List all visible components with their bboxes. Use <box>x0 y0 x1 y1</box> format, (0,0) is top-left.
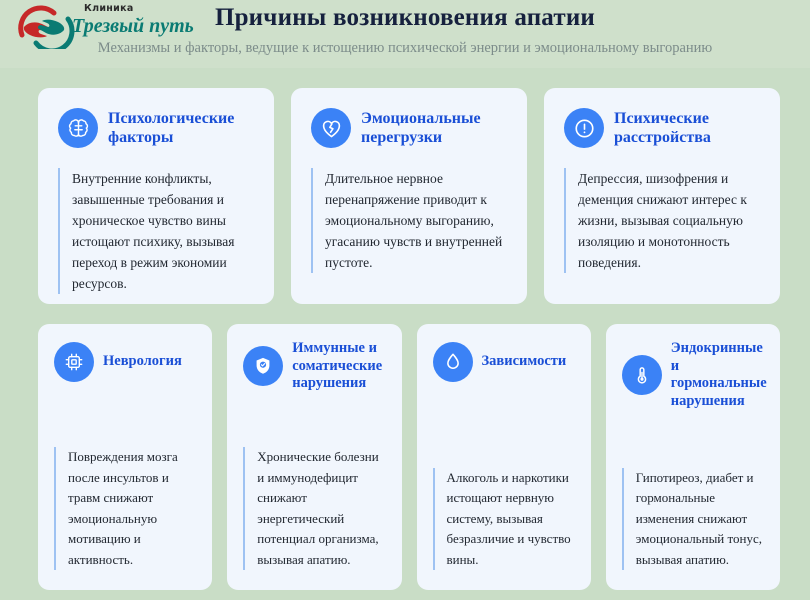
card-body: Хронические болезни и иммунодефицит сниж… <box>243 447 385 570</box>
infographic-page: Клиника Трезвый путь Причины возникновен… <box>0 0 810 600</box>
cards-row-top: Психологические факторы Внутренние конфл… <box>38 88 780 304</box>
broken-heart-icon <box>311 108 351 148</box>
card-title: Иммунные и соматические нарушения <box>292 340 385 393</box>
card-header: Иммунные и соматические нарушения <box>243 340 385 393</box>
cards-row-bottom: Неврология Повреждения мозга после инсул… <box>38 324 780 590</box>
page-title: Причины возникновения апатии <box>0 4 810 32</box>
card-title: Зависимости <box>482 353 567 371</box>
microchip-icon <box>54 342 94 382</box>
card-psychological-factors: Психологические факторы Внутренние конфл… <box>38 88 274 304</box>
card-body: Гипотиреоз, диабет и гормональные измене… <box>622 468 764 571</box>
shield-check-icon <box>243 346 283 386</box>
card-title: Неврология <box>103 353 182 371</box>
card-endocrine-hormonal: Эндокринные и гормональные нарушения Гип… <box>606 324 780 590</box>
exclamation-circle-icon <box>564 108 604 148</box>
card-body: Депрессия, шизофрения и деменция снижают… <box>564 168 760 273</box>
card-header: Неврология <box>54 340 196 384</box>
card-addictions: Зависимости Алкоголь и наркотики истощаю… <box>417 324 591 590</box>
brain-icon <box>58 108 98 148</box>
card-immune-somatic: Иммунные и соматические нарушения Хронич… <box>227 324 401 590</box>
card-body: Длительное нервное перенапряжение привод… <box>311 168 507 273</box>
card-body: Алкоголь и наркотики истощают нервную си… <box>433 468 575 571</box>
card-body: Повреждения мозга после инсультов и трав… <box>54 447 196 570</box>
card-title: Эмоциональные перегрузки <box>361 109 507 147</box>
card-emotional-overload: Эмоциональные перегрузки Длительное нерв… <box>291 88 527 304</box>
card-body: Внутренние конфликты, завышенные требова… <box>58 168 254 294</box>
card-title: Эндокринные и гормональные нарушения <box>671 340 767 410</box>
card-header: Эндокринные и гормональные нарушения <box>622 340 764 410</box>
card-neurology: Неврология Повреждения мозга после инсул… <box>38 324 212 590</box>
card-mental-disorders: Психические расстройства Депрессия, шизо… <box>544 88 780 304</box>
page-header: Клиника Трезвый путь Причины возникновен… <box>0 0 810 68</box>
card-title: Психологические факторы <box>108 109 254 147</box>
card-title: Психические расстройства <box>614 109 760 147</box>
water-drop-icon <box>433 342 473 382</box>
card-header: Психологические факторы <box>58 106 254 150</box>
thermometer-icon <box>622 355 662 395</box>
card-header: Зависимости <box>433 340 575 384</box>
card-header: Эмоциональные перегрузки <box>311 106 507 150</box>
card-header: Психические расстройства <box>564 106 760 150</box>
page-subtitle: Механизмы и факторы, ведущие к истощению… <box>0 40 810 57</box>
